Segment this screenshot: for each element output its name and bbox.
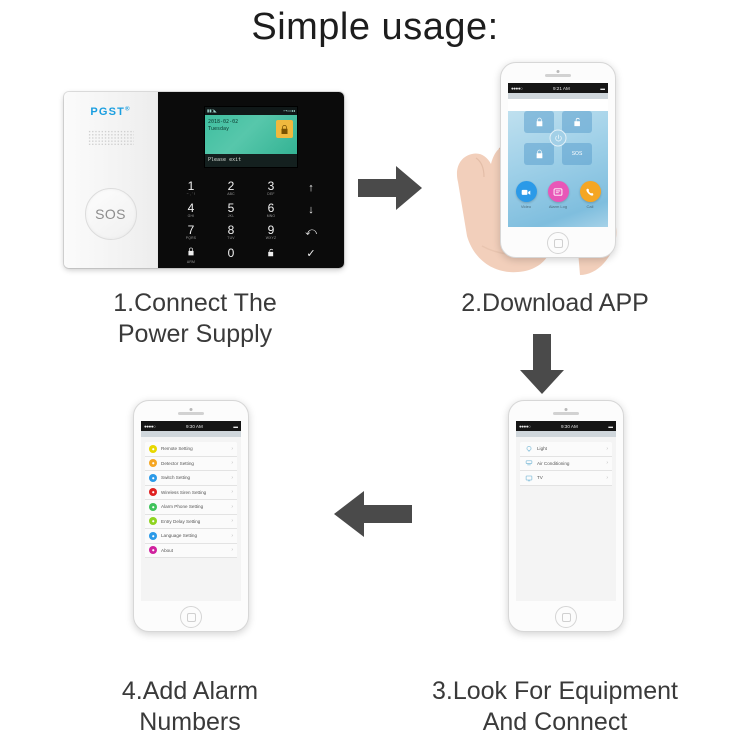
check-icon: ✓ (306, 249, 315, 260)
camera-icon[interactable] (516, 181, 537, 202)
lock-closed-icon (187, 244, 195, 260)
shortcut-call[interactable]: Call (580, 181, 601, 209)
back-arrow-icon: ⤺ (305, 227, 317, 238)
list-item-label: Alarm Phone Setting (161, 504, 227, 509)
key-6[interactable]: 6MNO (267, 202, 276, 219)
battery-icon: ▬ (233, 424, 238, 429)
chevron-right-icon: › (231, 547, 233, 553)
arrow-down-icon: ↓ (308, 205, 314, 216)
arrow-step3-to-step4 (332, 488, 412, 540)
arm-control-pad: SOS (521, 111, 595, 165)
clock-label: 9:21 AM (553, 86, 570, 91)
key-arrow-up[interactable]: ↑ (308, 183, 314, 194)
chevron-right-icon: › (606, 475, 608, 481)
list-item[interactable]: Light › (520, 442, 612, 457)
detector-icon (149, 459, 157, 467)
chevron-right-icon: › (231, 475, 233, 481)
smart-home-list: Light › Air Conditioning › TV › main men… (516, 437, 616, 601)
list-item[interactable]: Detector Setting› (145, 457, 237, 472)
log-icon[interactable] (548, 181, 569, 202)
list-item-label: Detector Setting (161, 461, 227, 466)
step1-caption: 1.Connect The Power Supply (35, 288, 355, 350)
app-main-menu: SOS Video (508, 111, 608, 227)
chevron-right-icon: › (231, 489, 233, 495)
pgst-logo: PGST® (90, 106, 130, 118)
disarm-button[interactable] (562, 111, 592, 133)
phone2-screen: ●●●●○ 9:21 AM ▬ SOS (508, 83, 608, 227)
shortcut-call-label: Call (580, 204, 601, 209)
earpiece-icon (545, 74, 571, 77)
chevron-right-icon: › (606, 460, 608, 466)
page-title: Simple usage: (0, 6, 750, 49)
battery-icon: ▬ (600, 86, 605, 91)
bulb-icon (524, 444, 533, 453)
lcd-body: 2018-02-02 Tuesday (205, 115, 297, 154)
alarm-control-panel: PGST® SOS ▮▮▯◣ ⊶▭◂◂ 2018-02-02 Tuesday (64, 92, 344, 268)
earpiece-icon (553, 412, 579, 415)
front-camera-icon (565, 408, 568, 411)
earpiece-icon (178, 412, 204, 415)
list-item[interactable]: Wireless Siren Setting› (145, 486, 237, 501)
registered-mark: ® (125, 106, 131, 112)
key-1[interactable]: 1~ , ' ! (187, 180, 196, 197)
keypad[interactable]: 1~ , ' ! 2ABC 3DEF ↑ 4GHI 5JKL 6MNO ↓ 7P… (171, 177, 331, 265)
arrow-up-icon: ↑ (308, 183, 314, 194)
list-item-label: Light (537, 446, 602, 451)
phone3-screen: ●●●●○ 9:30 AM ▬ Light › Air Conditioning… (516, 421, 616, 601)
home-button[interactable] (180, 606, 202, 628)
battery-icon: ▬ (608, 424, 613, 429)
chevron-right-icon: › (231, 446, 233, 452)
signal-icon: ●●●●○ (511, 86, 522, 91)
arrow-step1-to-step2 (358, 164, 424, 212)
list-item-label: Wireless Siren Setting (161, 490, 227, 495)
lcd-status-bar: ▮▮▯◣ ⊶▭◂◂ (205, 107, 297, 115)
key-back[interactable]: ⤺ (305, 227, 317, 238)
front-camera-icon (557, 70, 560, 73)
sub-bar (508, 93, 608, 99)
phone-icon[interactable] (580, 181, 601, 202)
signal-icon: ●●●●○ (144, 424, 155, 429)
lcd-signal-icon: ▮▮▯◣ (207, 107, 217, 115)
lcd-lock-icon (276, 120, 293, 138)
tv-icon (524, 473, 533, 482)
key-disarm-unlock[interactable] (267, 245, 275, 263)
key-2[interactable]: 2ABC (227, 180, 235, 197)
switch-icon (149, 474, 157, 482)
phone-step4: ●●●●○ 9:30 AM ▬ Remote Setting›Detector … (133, 400, 249, 632)
chevron-right-icon: › (231, 460, 233, 466)
list-item[interactable]: Entry Delay Setting› (145, 515, 237, 530)
list-item[interactable]: Switch Setting› (145, 471, 237, 486)
home-button[interactable] (555, 606, 577, 628)
list-item[interactable]: About› (145, 544, 237, 559)
shortcut-video[interactable]: Video (516, 181, 537, 209)
arm-away-button[interactable] (524, 111, 554, 133)
front-camera-icon (190, 408, 193, 411)
chevron-right-icon: › (231, 504, 233, 510)
info-icon (149, 546, 157, 554)
key-confirm[interactable]: ✓ (306, 249, 315, 260)
shortcut-alarm-log-label: Alarm Log (548, 204, 569, 209)
sos-button[interactable]: SOS (85, 188, 137, 240)
lcd-footer-text: Please exit (205, 154, 297, 167)
list-item-label: Language Setting (161, 533, 227, 538)
simple-usage-infographic: Simple usage: PGST® SOS ▮▮▯◣ ⊶▭◂◂ 2018-0… (0, 0, 750, 750)
chevron-right-icon: › (231, 533, 233, 539)
step4-caption: 4.Add Alarm Numbers (40, 676, 340, 738)
list-item[interactable]: Language Setting› (145, 529, 237, 544)
sos-button-app[interactable]: SOS (562, 143, 592, 165)
list-item-label: Switch Setting (161, 475, 227, 480)
key-0[interactable]: 0 (228, 247, 235, 261)
shortcut-row: Video Alarm Log Call (508, 181, 608, 209)
list-item[interactable]: Remote Setting› (145, 442, 237, 457)
shortcut-video-label: Video (516, 204, 537, 209)
status-bar: ●●●●○ 9:30 AM ▬ (141, 421, 241, 431)
phone-step3: ●●●●○ 9:30 AM ▬ Light › Air Conditioning… (508, 400, 624, 632)
list-item[interactable]: TV › (520, 471, 612, 486)
status-bar: ●●●●○ 9:30 AM ▬ (516, 421, 616, 431)
status-bar: ●●●●○ 9:21 AM ▬ (508, 83, 608, 93)
phone4-screen: ●●●●○ 9:30 AM ▬ Remote Setting›Detector … (141, 421, 241, 601)
key-8[interactable]: 8TUV (227, 224, 234, 241)
lock-open-icon (267, 245, 275, 261)
panel-right-face: ▮▮▯◣ ⊶▭◂◂ 2018-02-02 Tuesday Please exit… (158, 92, 344, 268)
list-item-label: Air Conditioning (537, 461, 602, 466)
list-item[interactable]: Alarm Phone Setting› (145, 500, 237, 515)
list-item-label: TV (537, 475, 602, 480)
arrow-step2-to-step3 (518, 334, 566, 396)
clock-icon (149, 517, 157, 525)
step3-caption: 3.Look For Equipment And Connect (390, 676, 720, 738)
arm-home-button[interactable] (524, 143, 554, 165)
remote-icon (149, 445, 157, 453)
clock-label: 9:30 AM (561, 424, 578, 429)
chevron-right-icon: › (606, 446, 608, 452)
key-arrow-down[interactable]: ↓ (308, 205, 314, 216)
shortcut-alarm-log[interactable]: Alarm Log (548, 181, 569, 209)
clock-label: 9:30 AM (186, 424, 203, 429)
list-item-label: Remote Setting (161, 446, 227, 451)
speaker-grille-icon (88, 130, 134, 146)
home-button[interactable] (547, 232, 569, 254)
step2-caption: 2.Download APP (400, 288, 710, 319)
power-icon[interactable] (550, 130, 567, 147)
siren-icon (149, 488, 157, 496)
list-item-label: About (161, 548, 227, 553)
panel-left-face: PGST® SOS (64, 92, 158, 268)
phone-step2: ●●●●○ 9:21 AM ▬ SOS (500, 62, 616, 258)
key-3[interactable]: 3DEF (267, 180, 274, 197)
key-5[interactable]: 5JKL (228, 202, 235, 219)
list-item-label: Entry Delay Setting (161, 519, 227, 524)
pgst-logo-text: PGST (90, 106, 125, 118)
key-7[interactable]: 7PQRS (186, 224, 196, 241)
settings-list: Remote Setting›Detector Setting›Switch S… (141, 437, 241, 601)
lcd-screen: ▮▮▯◣ ⊶▭◂◂ 2018-02-02 Tuesday Please exit (204, 106, 298, 168)
key-9[interactable]: 9WXYZ (266, 224, 277, 241)
key-4[interactable]: 4GHI (188, 202, 195, 219)
list-item[interactable]: Air Conditioning › (520, 457, 612, 472)
key-arm-lock[interactable]: ARM (187, 244, 195, 265)
phone-icon (149, 503, 157, 511)
globe-icon (149, 532, 157, 540)
chevron-right-icon: › (231, 518, 233, 524)
lcd-battery-icon: ⊶▭◂◂ (283, 107, 295, 115)
ac-icon (524, 459, 533, 468)
signal-icon: ●●●●○ (519, 424, 530, 429)
